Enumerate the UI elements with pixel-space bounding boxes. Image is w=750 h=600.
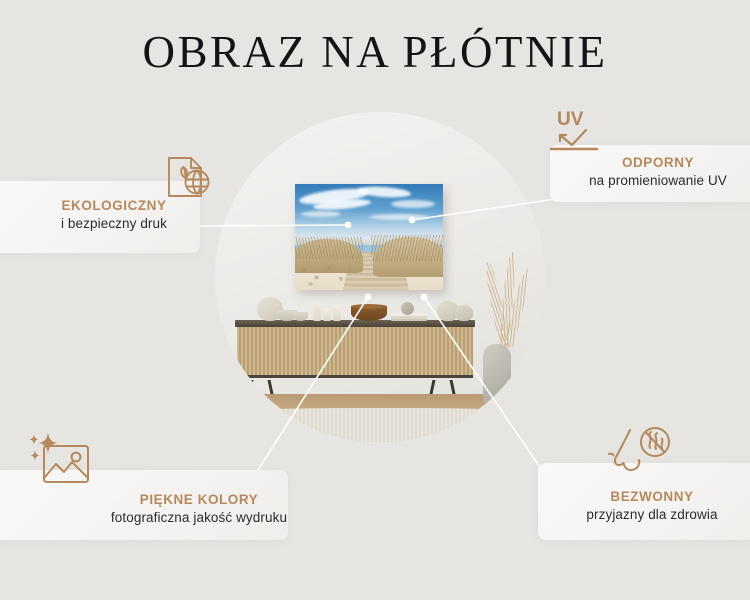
sideboard-top [235,320,475,327]
ceramic-bowl [293,312,308,321]
room-scene-photo [215,112,545,442]
infographic-canvas: OBRAZ NA PŁÓTNIE [0,0,750,600]
globe-outline [186,171,209,194]
smell-wave [662,439,663,449]
globe-meridian [197,171,201,194]
candle [333,306,341,321]
sparkle-large [39,432,57,454]
feature-text-odor: BEZWONNY przyjazny dla zdrowia [552,489,750,522]
uv-reflection-icon: UV [548,106,604,158]
feature-subtitle-uv: na promieniowanie UV [566,173,750,188]
feature-title-odor: BEZWONNY [552,489,750,504]
photo-frame [44,446,88,482]
smell-wave [649,432,651,448]
sparkle-small-top [29,434,38,445]
feature-text-colors: PIĘKNE KOLORY fotograficzna jakość wydru… [104,492,294,525]
page-title: OBRAZ NA PŁÓTNIE [0,26,750,78]
artwork-footprints [299,262,357,288]
feature-text-uv: ODPORNY na promieniowanie UV [566,155,750,188]
nose-bridge [615,430,630,465]
photo-mountains [44,462,88,478]
nose-nostril-curve [624,460,640,470]
photo-sparkle-icon [26,430,100,494]
cloud [301,211,341,217]
feature-title-colors: PIĘKNE KOLORY [104,492,294,507]
cloud [391,200,435,208]
globe-meridian [193,171,197,194]
wooden-bowl [351,306,387,321]
artwork-dune-grass [371,235,443,261]
feature-subtitle-odor: przyjazny dla zdrowia [552,507,750,522]
ceramic-pot [455,305,473,321]
sideboard-fluted-front [237,327,473,378]
sideboard [235,320,475,382]
nose-detail [609,454,614,456]
nose-no-smell-icon [606,424,674,482]
floor-vase [483,344,511,406]
artwork-dune-grass [295,237,363,259]
wooden-bowl-rim [351,304,387,309]
decor-sphere [401,302,414,315]
smell-wave [655,433,657,449]
photo-sun [72,453,81,462]
rug [215,408,545,442]
sparkle-small-bottom [30,450,39,461]
uv-ray-path [560,130,586,145]
candle [313,302,321,321]
document-globe-leaf-icon [156,146,218,208]
cloud [369,214,429,220]
room-scene-circle [215,112,545,442]
feature-subtitle-eco: i bezpieczny druk [28,216,200,231]
canvas-artwork [295,184,443,290]
feature-subtitle-colors: fotograficzna jakość wydruku [104,510,294,525]
uv-label: UV [557,109,584,130]
candle [323,308,331,321]
